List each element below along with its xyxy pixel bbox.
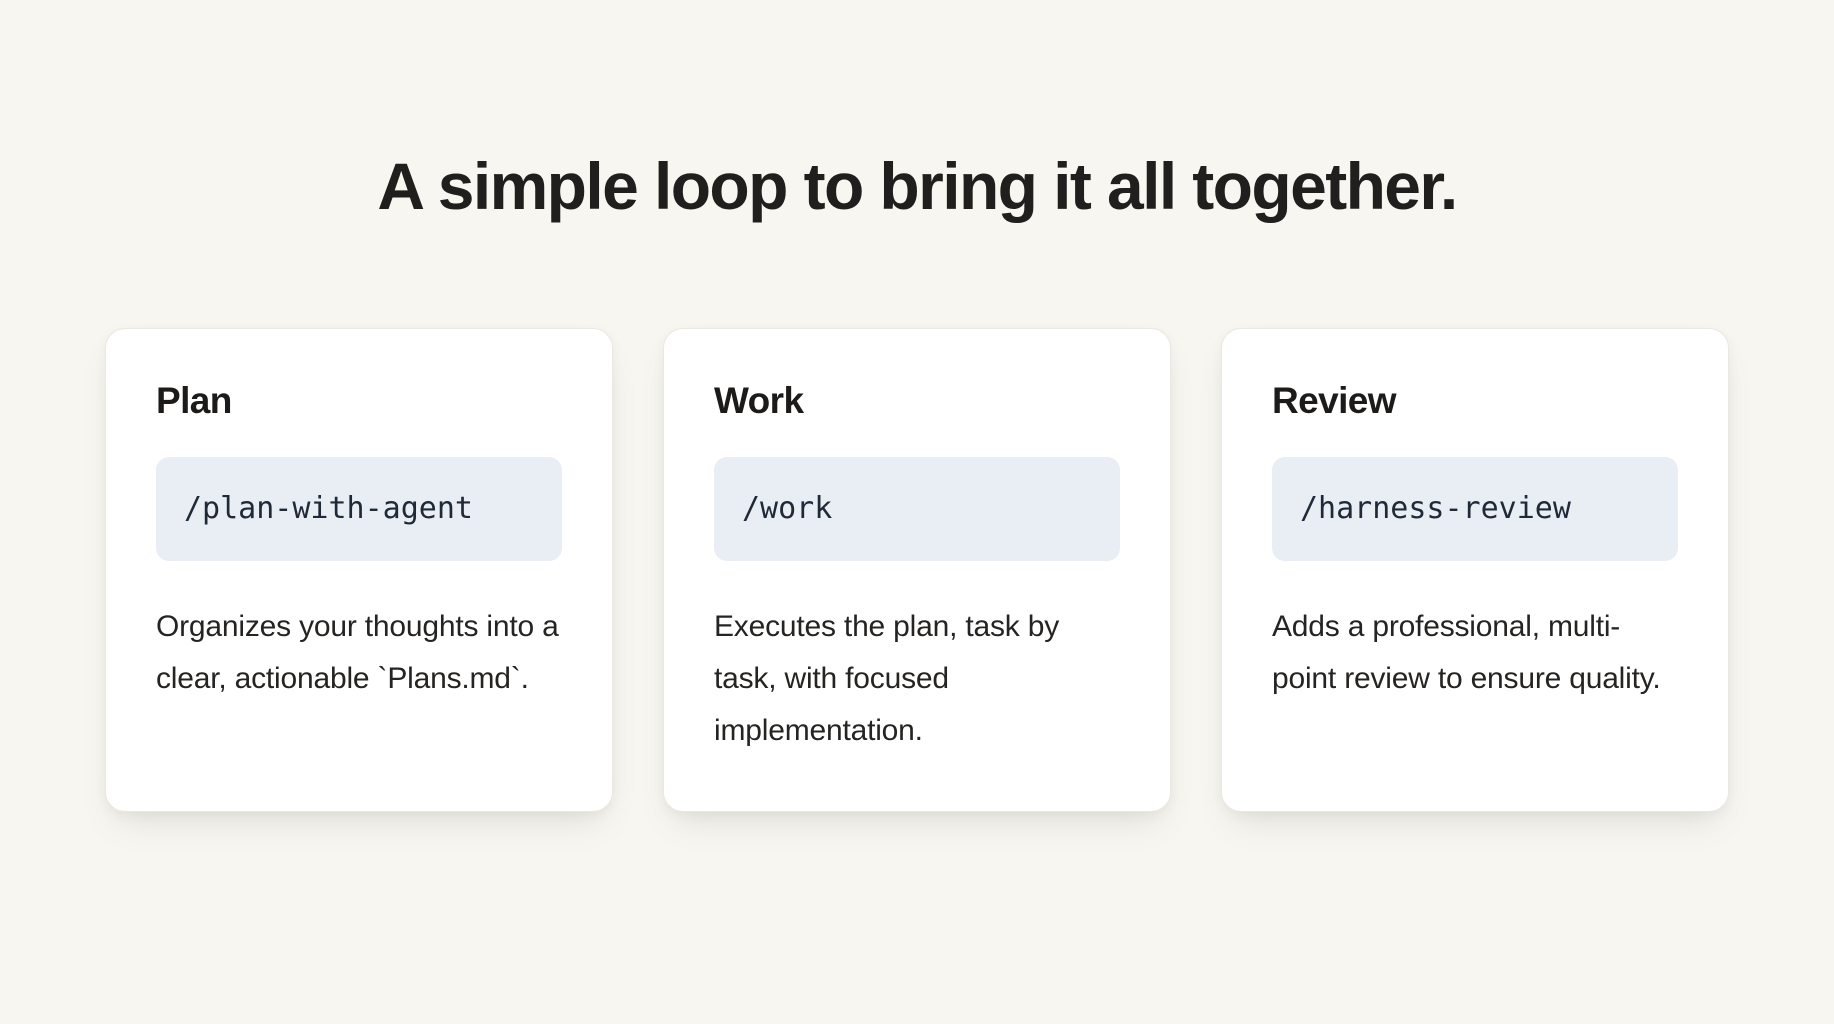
command-chip-review: /harness-review [1272,457,1678,561]
command-text-review: /harness-review [1300,491,1571,526]
command-text-work: /work [742,491,832,526]
card-work: Work /work Executes the plan, task by ta… [663,328,1171,812]
card-heading-work: Work [714,379,1120,423]
card-description-work: Executes the plan, task by task, with fo… [714,601,1120,757]
command-chip-plan: /plan-with-agent [156,457,562,561]
command-chip-work: /work [714,457,1120,561]
card-heading-review: Review [1272,379,1678,423]
card-description-plan: Organizes your thoughts into a clear, ac… [156,601,562,705]
card-heading-plan: Plan [156,379,562,423]
command-text-plan: /plan-with-agent [184,491,473,526]
card-review: Review /harness-review Adds a profession… [1221,328,1729,812]
page-title: A simple loop to bring it all together. [377,150,1456,223]
feature-cards-row: Plan /plan-with-agent Organizes your tho… [105,328,1729,812]
page-root: A simple loop to bring it all together. … [0,0,1834,1024]
card-plan: Plan /plan-with-agent Organizes your tho… [105,328,613,812]
card-description-review: Adds a professional, multi-point review … [1272,601,1678,705]
